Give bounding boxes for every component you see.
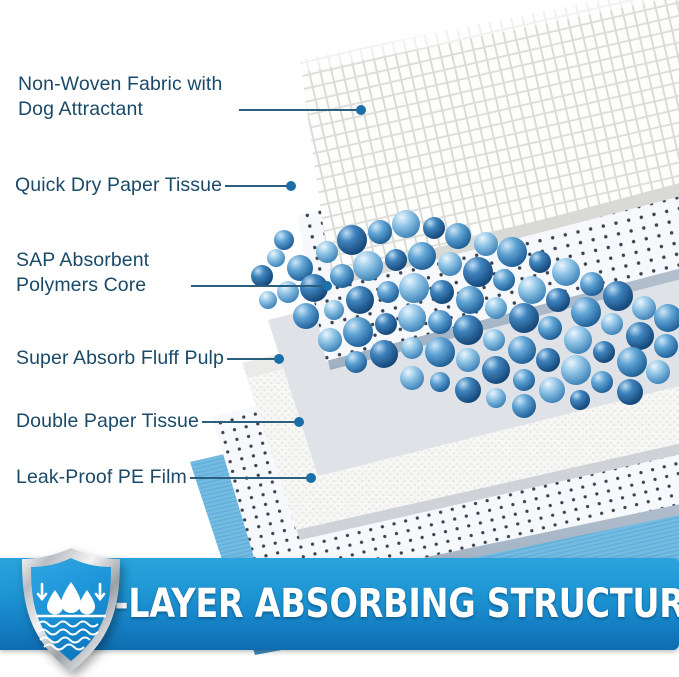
callout-label: Double Paper Tissue — [16, 409, 199, 434]
leader-dot — [356, 105, 366, 115]
callout-leak-proof-pe-film: Leak-Proof PE Film — [16, 465, 316, 490]
waterproof-shield-badge — [14, 546, 128, 674]
leader-line — [225, 185, 287, 187]
leader-line-group — [199, 417, 304, 427]
callout-double-paper-tissue: Double Paper Tissue — [16, 409, 304, 434]
callout-label: Quick Dry Paper Tissue — [15, 173, 222, 198]
leader-line — [227, 358, 275, 360]
leader-dot — [274, 354, 284, 364]
callout-label: Super Absorb Fluff Pulp — [16, 346, 224, 371]
leader-line-group — [222, 181, 296, 191]
leader-line — [202, 421, 295, 423]
banner-title: 6-LAYER ABSORBING STRUCTURE — [140, 558, 660, 650]
leader-dot — [306, 473, 316, 483]
infographic-canvas: Non-Woven Fabric with Dog Attractant Qui… — [0, 0, 679, 677]
callout-label: Leak-Proof PE Film — [16, 465, 187, 490]
callout-super-absorb-fluff-pulp: Super Absorb Fluff Pulp — [16, 346, 284, 371]
leader-line-group — [224, 354, 284, 364]
callout-quick-dry-paper-tissue: Quick Dry Paper Tissue — [15, 173, 296, 198]
leader-line-group — [187, 473, 316, 483]
leader-line-group — [236, 105, 366, 115]
callout-non-woven-fabric: Non-Woven Fabric with Dog Attractant — [18, 72, 366, 122]
callout-sap-absorbent-polymers-core: SAP Absorbent Polymers Core — [16, 248, 332, 298]
leader-line — [190, 477, 307, 479]
leader-line — [191, 285, 323, 287]
leader-dot — [294, 417, 304, 427]
callout-label: SAP Absorbent Polymers Core — [16, 248, 188, 298]
leader-line-group — [188, 281, 332, 291]
leader-line — [239, 109, 357, 111]
callout-label: Non-Woven Fabric with Dog Attractant — [18, 72, 254, 122]
leader-dot — [322, 281, 332, 291]
leader-dot — [286, 181, 296, 191]
